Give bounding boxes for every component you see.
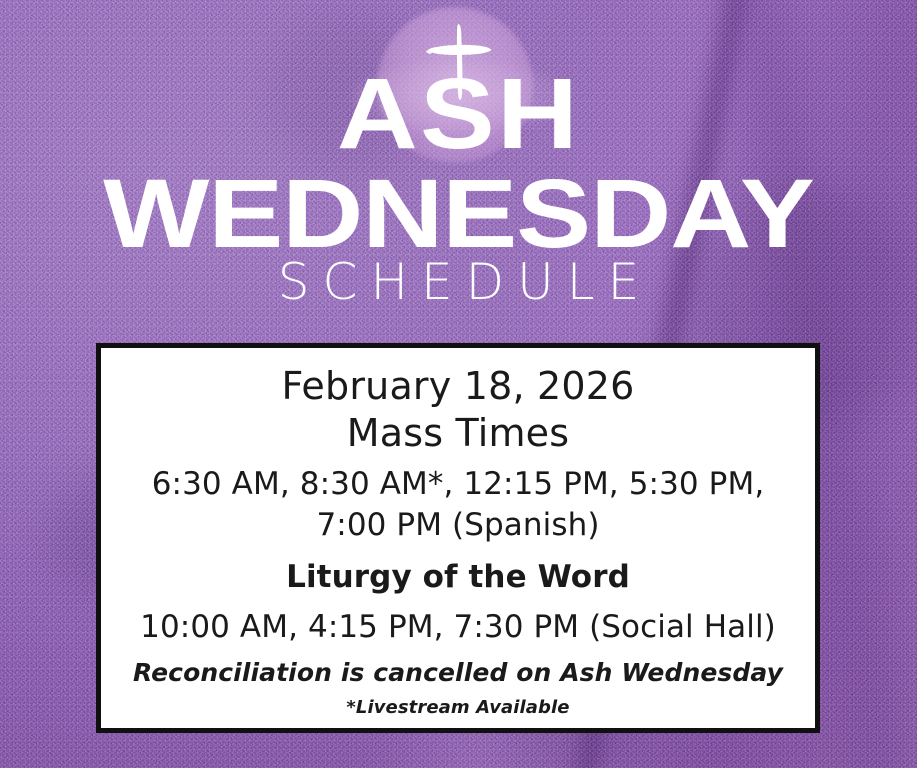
headline-line-ash: ASH bbox=[0, 64, 917, 164]
mass-times-line-1: 6:30 AM, 8:30 AM*, 12:15 PM, 5:30 PM, bbox=[115, 464, 801, 505]
ash-wednesday-poster: ASH WEDNESDAY SCHEDULE February 18, 2026… bbox=[0, 0, 917, 768]
livestream-footnote: *Livestream Available bbox=[115, 697, 801, 719]
service-date: February 18, 2026 bbox=[115, 364, 801, 409]
schedule-card-content: February 18, 2026 Mass Times 6:30 AM, 8:… bbox=[101, 348, 815, 718]
liturgy-of-the-word-times: 10:00 AM, 4:15 PM, 7:30 PM (Social Hall) bbox=[115, 609, 801, 646]
reconciliation-note: Reconciliation is cancelled on Ash Wedne… bbox=[115, 658, 801, 688]
liturgy-of-the-word-heading: Liturgy of the Word bbox=[115, 559, 801, 596]
headline-line-schedule: SCHEDULE bbox=[0, 257, 917, 307]
mass-times-line-2: 7:00 PM (Spanish) bbox=[115, 505, 801, 546]
mass-times-heading: Mass Times bbox=[115, 411, 801, 456]
headline-line-wednesday: WEDNESDAY bbox=[0, 165, 917, 262]
schedule-card: February 18, 2026 Mass Times 6:30 AM, 8:… bbox=[96, 343, 820, 733]
